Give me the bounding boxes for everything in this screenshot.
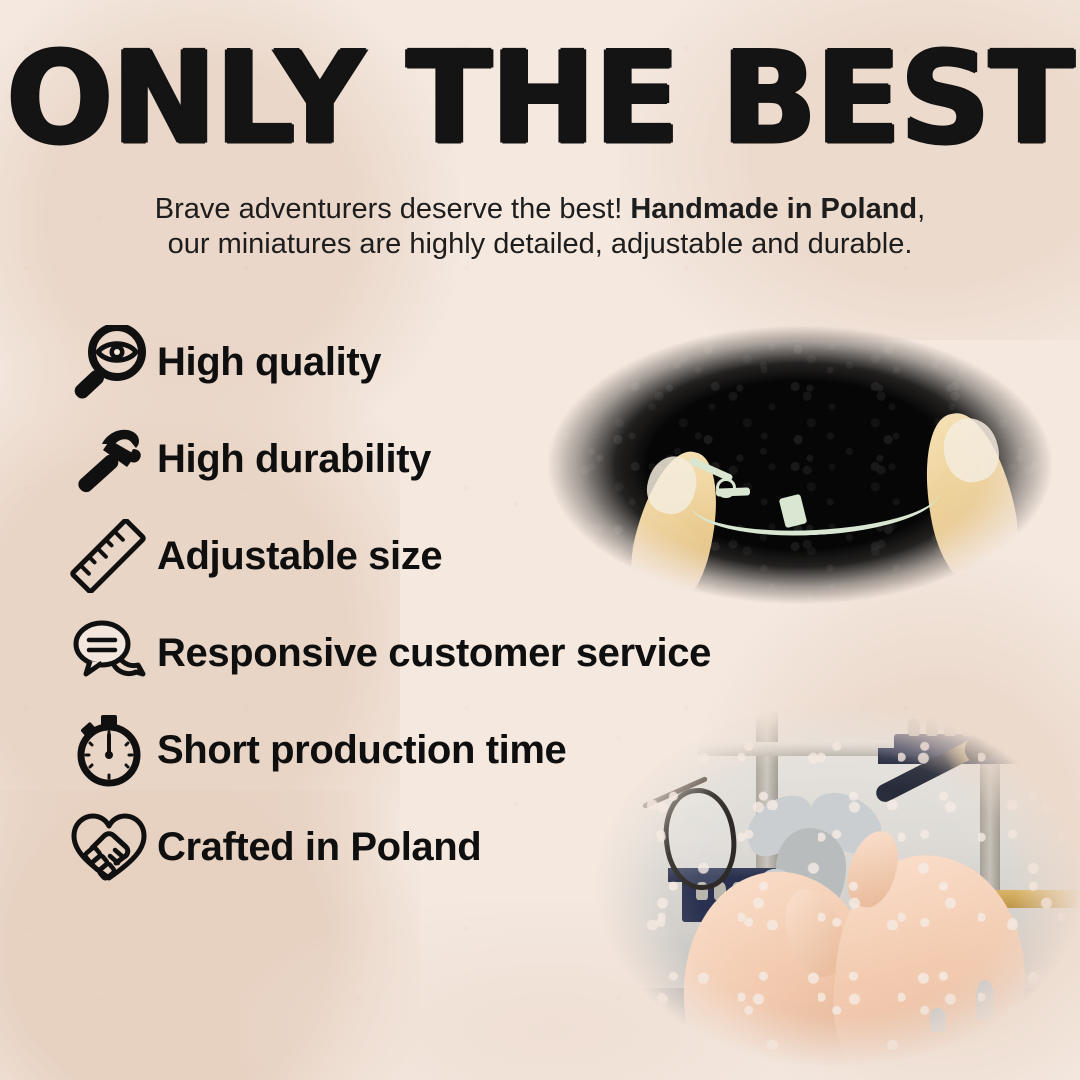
ruler-icon — [68, 516, 150, 596]
chat-bubbles-icon — [68, 613, 150, 693]
subtitle-tail: , — [917, 193, 925, 225]
promo-graphic: ONLY THE BEST Brave adventurers deserve … — [0, 0, 1080, 1080]
feature-label: High quality — [157, 322, 381, 402]
stopwatch-icon — [68, 710, 150, 790]
list-item: High quality — [62, 322, 792, 419]
list-item: Adjustable size — [62, 516, 792, 613]
feature-label: Responsive customer service — [157, 613, 711, 693]
list-item: Responsive customer service — [62, 613, 792, 710]
feature-label: Adjustable size — [157, 516, 442, 596]
feature-label: Crafted in Poland — [157, 807, 481, 887]
feature-label: High durability — [157, 419, 431, 499]
feature-list: High quality High durability — [62, 322, 792, 904]
subtitle-highlight: Handmade in Poland — [630, 193, 917, 225]
miniature-figure — [930, 1008, 946, 1032]
hammer-icon — [68, 419, 150, 499]
handshake-heart-icon — [68, 807, 150, 887]
subtitle: Brave adventurers deserve the best! Hand… — [0, 192, 1080, 262]
miniature-figure — [976, 980, 994, 1020]
subtitle-lead: Brave adventurers deserve the best! — [155, 193, 631, 225]
feature-label: Short production time — [157, 710, 566, 790]
magnifier-eye-icon — [68, 322, 150, 402]
subtitle-line-1: Brave adventurers deserve the best! Hand… — [0, 192, 1080, 227]
subtitle-line-2: our miniatures are highly detailed, adju… — [0, 227, 1080, 262]
list-item: Short production time — [62, 710, 792, 807]
list-item: Crafted in Poland — [62, 807, 792, 904]
page-title: ONLY THE BEST — [0, 33, 1080, 163]
list-item: High durability — [62, 419, 792, 516]
